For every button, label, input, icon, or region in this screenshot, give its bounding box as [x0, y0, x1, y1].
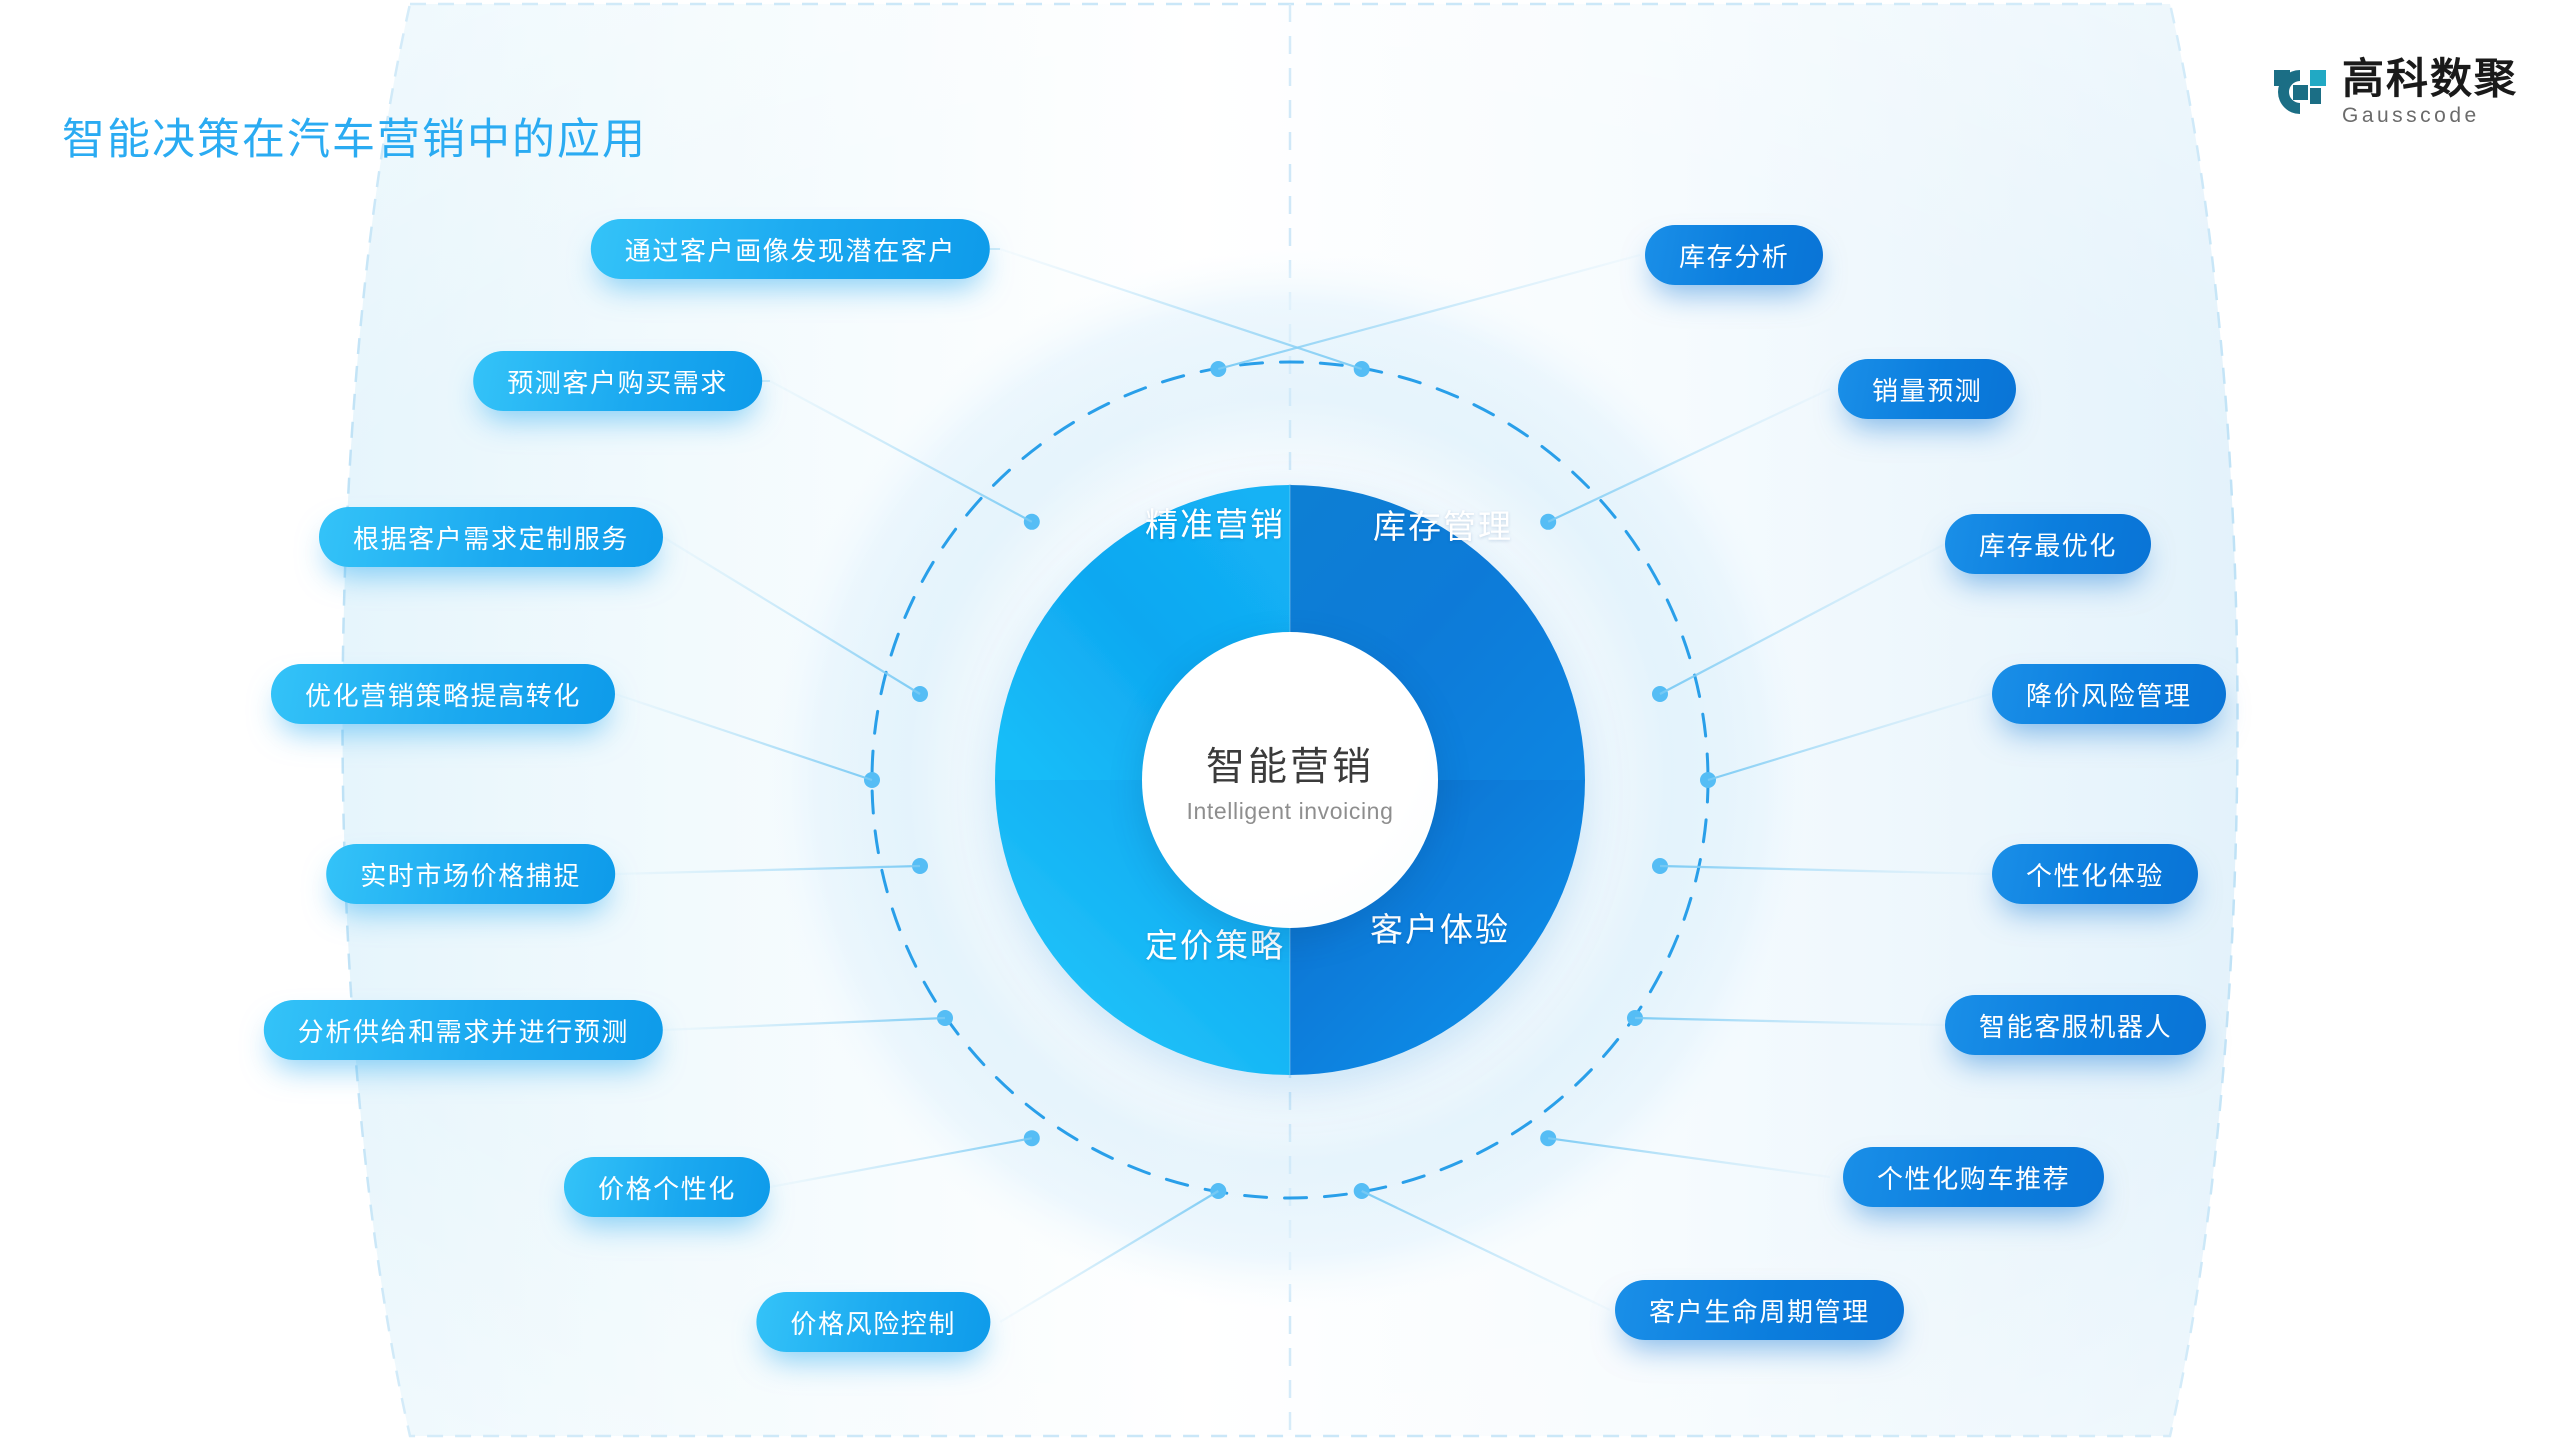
list-item-left-3[interactable]: 根据客户需求定制服务 — [319, 507, 663, 567]
pill-label: 客户生命周期管理 — [1649, 1292, 1870, 1329]
pill-label: 价格风险控制 — [790, 1304, 956, 1341]
pill-label: 根据客户需求定制服务 — [353, 519, 629, 556]
center-title-cn: 智能营销 — [1206, 736, 1374, 792]
list-item-right-7[interactable]: 个性化购车推荐 — [1843, 1147, 2104, 1207]
quadrant-label-inventory-management: 库存管理 — [1373, 500, 1513, 548]
list-item-left-8[interactable]: 价格风险控制 — [756, 1292, 990, 1352]
list-item-left-6[interactable]: 分析供给和需求并进行预测 — [264, 1000, 663, 1060]
list-item-right-3[interactable]: 库存最优化 — [1945, 514, 2151, 574]
pill-label: 实时市场价格捕捉 — [360, 856, 581, 893]
brand-logo: 高科数聚 Gausscode — [2274, 58, 2518, 126]
pill-label: 智能客服机器人 — [1979, 1007, 2172, 1044]
pill-label: 分析供给和需求并进行预测 — [298, 1012, 629, 1049]
pill-label: 库存最优化 — [1979, 526, 2117, 563]
central-donut-diagram: 精准营销 库存管理 定价策略 客户体验 智能营销 Intelligent inv… — [690, 180, 1890, 1380]
pill-label: 个性化体验 — [2026, 856, 2164, 893]
pill-label: 个性化购车推荐 — [1877, 1159, 2070, 1196]
center-core-circle: 智能营销 Intelligent invoicing — [1142, 632, 1438, 928]
quadrant-label-pricing-strategy: 定价策略 — [1145, 919, 1285, 967]
pill-label: 预测客户购买需求 — [507, 363, 728, 400]
logo-name-cn: 高科数聚 — [2342, 58, 2518, 100]
list-item-left-4[interactable]: 优化营销策略提高转化 — [271, 664, 615, 724]
pill-label: 价格个性化 — [598, 1169, 736, 1206]
list-item-left-5[interactable]: 实时市场价格捕捉 — [326, 844, 615, 904]
list-item-right-5[interactable]: 个性化体验 — [1992, 844, 2198, 904]
list-item-right-1[interactable]: 库存分析 — [1645, 225, 1823, 285]
list-item-right-2[interactable]: 销量预测 — [1838, 359, 2016, 419]
list-item-left-2[interactable]: 预测客户购买需求 — [473, 351, 762, 411]
page-title: 智能决策在汽车营销中的应用 — [62, 105, 647, 167]
quadrant-label-customer-experience: 客户体验 — [1370, 903, 1510, 951]
list-item-left-7[interactable]: 价格个性化 — [564, 1157, 770, 1217]
quadrant-label-precision-marketing: 精准营销 — [1145, 498, 1285, 546]
pill-label: 通过客户画像发现潜在客户 — [625, 231, 956, 268]
list-item-right-6[interactable]: 智能客服机器人 — [1945, 995, 2206, 1055]
logo-name-en: Gausscode — [2342, 105, 2518, 126]
infographic-canvas: 智能决策在汽车营销中的应用 高科数聚 Gausscode — [0, 0, 2560, 1440]
list-item-right-4[interactable]: 降价风险管理 — [1992, 664, 2226, 724]
gausscode-g-logo-icon — [2274, 66, 2326, 118]
pill-label: 降价风险管理 — [2026, 676, 2192, 713]
pill-label: 库存分析 — [1679, 237, 1789, 274]
pill-label: 优化营销策略提高转化 — [305, 676, 581, 713]
pill-label: 销量预测 — [1872, 371, 1982, 408]
center-title-en: Intelligent invoicing — [1187, 798, 1394, 825]
list-item-right-8[interactable]: 客户生命周期管理 — [1615, 1280, 1904, 1340]
list-item-left-1[interactable]: 通过客户画像发现潜在客户 — [591, 219, 990, 279]
